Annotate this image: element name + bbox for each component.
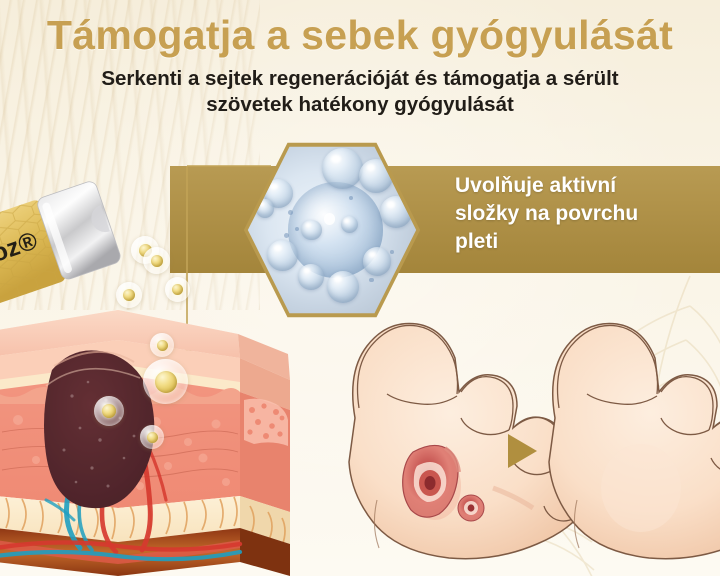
micro-bubble: [369, 278, 373, 282]
micro-bubble: [390, 250, 394, 254]
page-title: Támogatja a sebek gyógyulását: [0, 12, 720, 59]
serum-capsule: [140, 425, 164, 449]
bubble: [363, 247, 392, 276]
before-after-arrow-icon: [508, 434, 537, 468]
serum-droplet: [143, 247, 170, 274]
serum-capsule: [150, 333, 174, 357]
ingredient-hexagon: [243, 141, 421, 319]
callout-line-1: Uvolňuje aktivní: [455, 172, 705, 200]
bubble: [298, 264, 324, 290]
hexagon-bubble-image: [247, 145, 417, 315]
page-subtitle: Serkenti a sejtek regenerációját és támo…: [60, 66, 660, 118]
callout-line-2: složky na povrchu: [455, 200, 705, 228]
bubble: [322, 148, 363, 189]
subtitle-line-1: Serkenti a sejtek regenerációját és támo…: [60, 66, 660, 92]
subtitle-line-2: szövetek hatékony gyógyulását: [60, 92, 660, 118]
bubble: [327, 271, 359, 303]
bubble: [380, 196, 412, 228]
serum-capsule: [143, 359, 188, 404]
bubble: [341, 216, 358, 233]
poster-canvas: Támogatja a sebek gyógyulását Serkenti a…: [0, 0, 720, 576]
micro-bubble: [295, 227, 299, 231]
foot-after: [549, 323, 720, 558]
serum-capsule: [94, 396, 124, 426]
product-bottle: Cvreoz® oteg: [0, 136, 172, 326]
callout-text: Uvolňuje aktivní složky na povrchu pleti: [455, 172, 705, 256]
sparkle: [324, 213, 336, 225]
bubble: [267, 240, 298, 271]
serum-droplet: [165, 277, 190, 302]
callout-line-3: pleti: [455, 228, 705, 256]
bubble: [301, 220, 321, 240]
bubble: [359, 159, 393, 193]
micro-bubble: [288, 210, 293, 215]
